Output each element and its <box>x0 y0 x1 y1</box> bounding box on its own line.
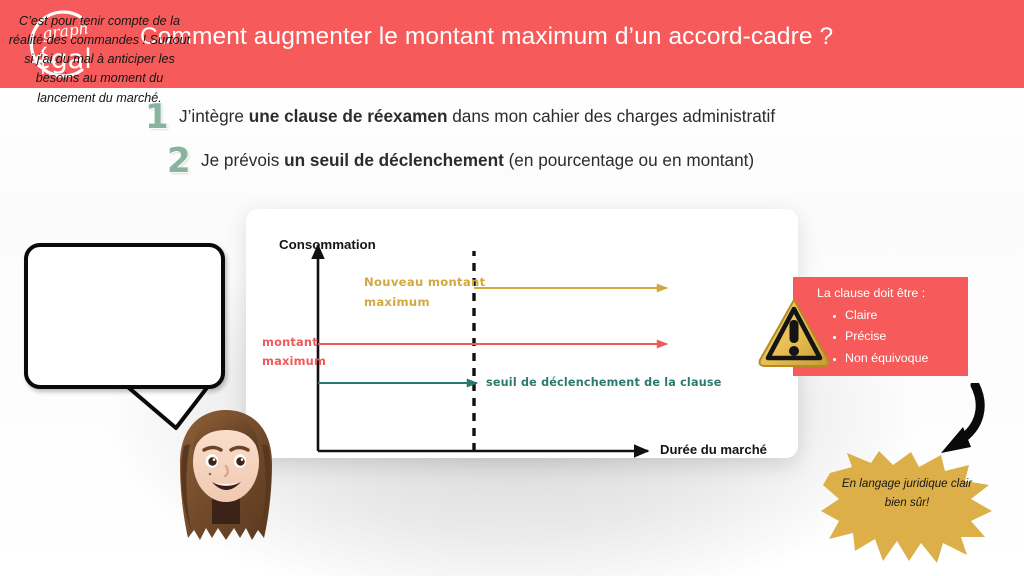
step-text-2: Je prévois un seuil de déclenchement (en… <box>197 150 754 172</box>
curved-arrow-icon <box>925 383 993 461</box>
warning-box-item: Non équivoque <box>845 348 928 369</box>
step-2-post: (en pourcentage ou en montant) <box>504 150 754 170</box>
chart-series-label-montant-maximum-line2: maximum <box>262 352 326 371</box>
step-1-pre: J’intègre <box>179 106 249 126</box>
step-2-pre: Je prévois <box>201 150 284 170</box>
speech-bubble <box>24 243 225 389</box>
step-text-1: J’intègre une clause de réexamen dans mo… <box>175 106 775 128</box>
step-number-2: 2 <box>167 144 197 178</box>
avatar <box>166 404 286 556</box>
step-2-bold: un seuil de déclenchement <box>284 150 504 170</box>
starburst-text: En langage juridique clair bien sûr! <box>836 475 978 513</box>
chart-series-label-montant-maximum-line1: montant <box>262 333 326 352</box>
curved-arrow-shape <box>925 383 993 461</box>
speech-bubble-text: C’est pour tenir compte de la réalité de… <box>8 12 191 108</box>
chart-series-label-nouveau-montant-line2: maximum <box>364 292 485 312</box>
step-1-bold: une clause de réexamen <box>249 106 448 126</box>
slide-root: graph égal Comment augmenter le montant … <box>0 0 1024 576</box>
chart-series-label-nouveau-montant-line1: Nouveau montant <box>364 272 485 292</box>
page-title: Comment augmenter le montant maximum d’u… <box>140 22 930 51</box>
chart-series-label-nouveau-montant: Nouveau montant maximum <box>364 272 485 313</box>
chart-series-label-montant-maximum: montant maximum <box>262 333 326 371</box>
steps-list: 1 J’intègre une clause de réexamen dans … <box>145 100 905 178</box>
chart-y-axis-label: Consommation <box>279 237 376 252</box>
step-item-2: 2 Je prévois un seuil de déclenchement (… <box>167 144 905 178</box>
step-1-post: dans mon cahier des charges administrati… <box>447 106 775 126</box>
chart-series-label-seuil: seuil de déclenchement de la clause <box>486 376 722 389</box>
warning-box-item: Claire <box>845 305 928 326</box>
warning-triangle-shape <box>756 292 832 372</box>
step-item-1: 1 J’intègre une clause de réexamen dans … <box>145 100 905 134</box>
avatar-memoji <box>166 404 286 556</box>
warning-box-item: Précise <box>845 326 928 347</box>
warning-triangle-icon <box>756 292 832 372</box>
chart-card: Consommation Nouveau montant maximum mon… <box>246 209 798 458</box>
warning-box-list: Claire Précise Non équivoque <box>827 305 928 369</box>
chart-x-axis-label: Durée du marché <box>660 442 767 457</box>
warning-box-title: La clause doit être : <box>817 286 925 300</box>
